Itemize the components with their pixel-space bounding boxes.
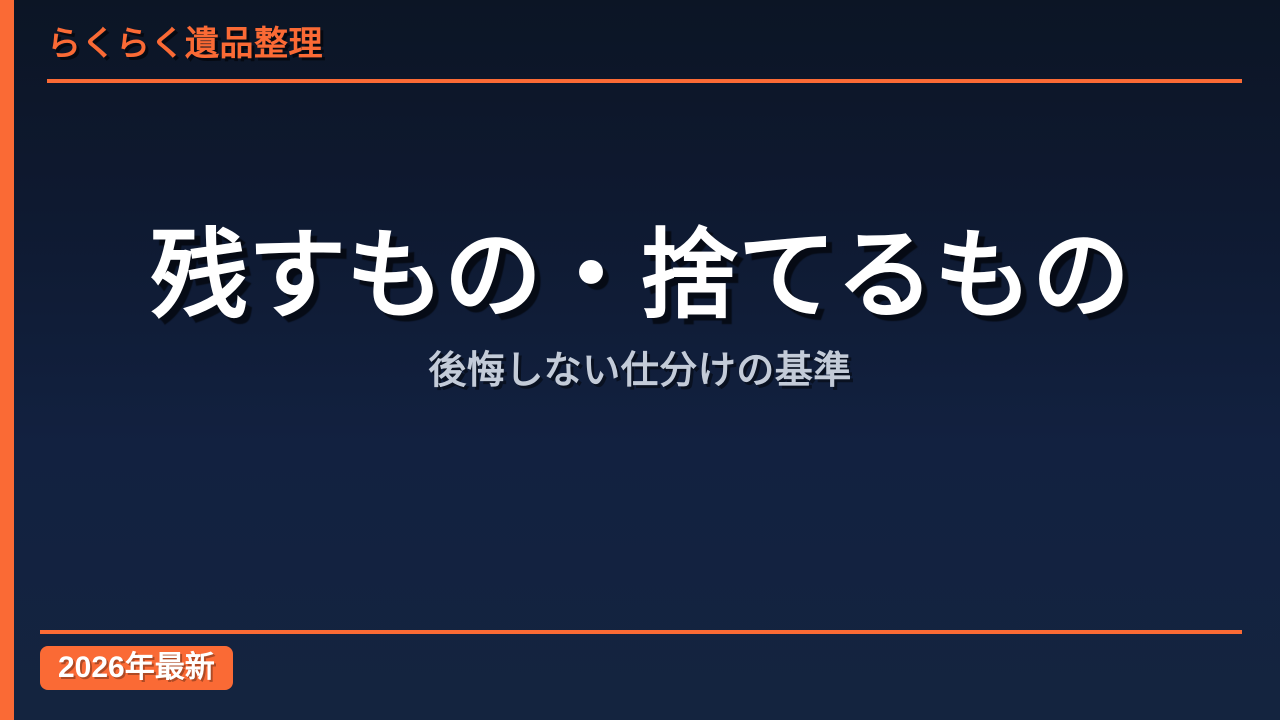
brand-title: らくらく遺品整理 [47, 22, 323, 66]
slide-footer: 2026年最新 [40, 630, 1242, 700]
title-slide: らくらく遺品整理 残すもの・捨てるもの 後悔しない仕分けの基準 2026年最新 [0, 0, 1280, 720]
year-badge: 2026年最新 [40, 646, 233, 690]
footer-divider [40, 630, 1242, 634]
header-divider [47, 79, 1242, 83]
slide-main-content: 残すもの・捨てるもの 後悔しない仕分けの基準 [0, 215, 1280, 395]
page-subtitle: 後悔しない仕分けの基準 [0, 347, 1280, 395]
page-title: 残すもの・捨てるもの [0, 215, 1280, 335]
slide-header: らくらく遺品整理 [47, 22, 1242, 92]
